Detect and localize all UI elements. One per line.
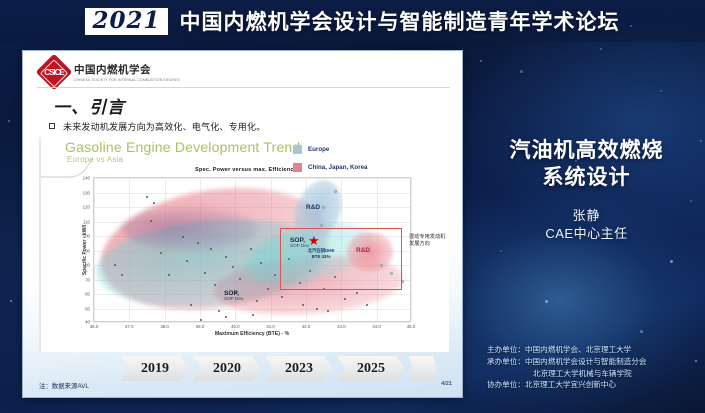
hybrid-direction-line2: 发展方向	[409, 241, 445, 248]
presentation-stage: 2021 中国内燃机学会设计与智能制造青年学术论坛 CSICE 中国内燃机学会 …	[0, 0, 705, 413]
plot-heading: Spec. Power versus max. Efficiency	[41, 167, 451, 173]
y-axis-title: Specific Power - kW/l	[82, 224, 88, 274]
background-speck	[575, 160, 577, 162]
year-timeline: 2019 2020 2023 2025	[121, 356, 441, 381]
background-speck	[610, 380, 612, 382]
background-speck	[630, 25, 632, 27]
logo-glyph: CSICE	[41, 59, 67, 85]
chart-card: Gasoline Engine Development Trend Europe…	[39, 137, 449, 352]
legend-item-asia: China, Japan, Korea	[293, 163, 368, 172]
speaker-name: 张静	[468, 205, 705, 224]
organizer-organizer-2: 北京理工大学机械与车辆学院	[487, 368, 703, 380]
background-speck	[690, 200, 692, 202]
background-speck	[10, 300, 12, 302]
legend-swatch-europe	[293, 145, 302, 154]
background-speck	[480, 60, 482, 62]
organizer-coorganizer: 协办单位：北京理工大学宜兴创新中心	[487, 379, 703, 391]
x-tick-label: 43.0	[337, 324, 346, 329]
timeline-year: 2025	[337, 356, 405, 381]
highlight-box	[280, 228, 402, 290]
x-axis-title: Maximum Efficiency (BTE) - %	[215, 331, 289, 337]
presentation-title: 汽油机高效燃烧 系统设计	[468, 138, 705, 192]
background-speck	[600, 48, 602, 50]
background-speck	[8, 120, 10, 122]
logo-org-cn: 中国内燃机学会	[74, 62, 180, 77]
organizer-organizer: 承办单位：中国内燃机学会设计与智能制造分会	[487, 356, 703, 368]
y-tick-label: 130	[83, 190, 90, 195]
x-tick-label: 36.0	[90, 324, 99, 329]
x-tick-label: 37.0	[125, 324, 134, 329]
x-tick-label: 40.0	[231, 324, 240, 329]
x-tick-label: 41.0	[266, 324, 275, 329]
organizer-host: 主办单位：中国内燃机学会、北京理工大学	[487, 344, 703, 356]
highlight-star-icon: ★	[308, 234, 320, 247]
label-europe-rd: R&D	[306, 204, 320, 211]
legend-label-europe: Europe	[308, 146, 329, 153]
background-speck	[545, 300, 548, 303]
timeline-tail	[409, 356, 437, 381]
section-heading: 一、引言	[53, 93, 125, 118]
background-speck	[660, 90, 662, 92]
chart-legend: Europe China, Japan, Korea	[293, 145, 368, 181]
chart-title: Gasoline Engine Development Trend	[65, 139, 300, 155]
organizer-block: 主办单位：中国内燃机学会、北京理工大学 承办单位：中国内燃机学会设计与智能制造分…	[487, 344, 703, 391]
logo-text: 中国内燃机学会 CHINESE SOCIETY FOR INTERNAL COM…	[74, 62, 180, 82]
banner-title: 中国内燃机学会设计与智能制造青年学术论坛	[180, 6, 620, 36]
hybrid-direction-annotation: 混动专用发动机 发展方向	[409, 234, 445, 249]
timeline-year: 2020	[193, 356, 261, 381]
legend-item-europe: Europe	[293, 145, 368, 154]
speaker-role: CAE中心主任	[468, 223, 705, 242]
bullet-item: 未来发动机发展方向为高效化、电气化、专用化。	[49, 120, 265, 133]
y-tick-label: 70	[85, 277, 90, 282]
x-tick-label: 38.0	[160, 324, 169, 329]
bullet-text: 未来发动机发展方向为高效化、电气化、专用化。	[63, 120, 265, 133]
slide-footnote: 注：数据来源AVL	[39, 381, 89, 390]
background-speck	[640, 330, 643, 333]
event-banner: 2021 中国内燃机学会设计与智能制造青年学术论坛	[0, 0, 705, 42]
highlight-label-line2: BTE 43%	[290, 254, 352, 260]
presentation-title-line1: 汽油机高效燃烧	[468, 138, 705, 165]
society-logo: CSICE 中国内燃机学会 CHINESE SOCIETY FOR INTERN…	[41, 59, 180, 85]
label-asia-sop: SOP, SOP Dev.	[224, 290, 244, 301]
x-tick-label: 39.0	[196, 324, 205, 329]
timeline-year: 2019	[121, 356, 189, 381]
y-tick-label: 140	[83, 176, 90, 181]
slide-canvas: CSICE 中国内燃机学会 CHINESE SOCIETY FOR INTERN…	[22, 50, 463, 398]
y-tick-label: 50	[85, 306, 90, 311]
y-tick-label: 60	[85, 292, 90, 297]
presentation-title-line2: 系统设计	[468, 165, 705, 192]
y-tick-label: 120	[83, 205, 90, 210]
x-tick-label: 45.0	[407, 324, 416, 329]
x-tick-label: 42.0	[302, 324, 311, 329]
slide-page-number: 4/21	[441, 381, 452, 387]
scatter-plot-area: 140 130 120 110 100 90 80 70 60 50 40 36…	[93, 177, 411, 322]
legend-label-asia: China, Japan, Korea	[308, 164, 368, 171]
chart-subtitle: Europe vs Asia	[67, 155, 123, 164]
square-bullet-icon	[49, 123, 55, 129]
timeline-year: 2023	[265, 356, 333, 381]
label-asia-sop-sub: SOP Dev.	[224, 296, 244, 301]
y-tick-label: 110	[83, 219, 90, 224]
background-speck	[520, 70, 523, 73]
background-speck	[670, 260, 673, 263]
banner-year: 2021	[85, 8, 167, 35]
background-speck	[500, 250, 502, 252]
legend-swatch-asia	[293, 163, 302, 172]
logo-org-en: CHINESE SOCIETY FOR INTERNAL COMBUSTION …	[74, 78, 180, 82]
diamond-logo-icon: CSICE	[36, 54, 73, 91]
x-tick-label: 44.0	[372, 324, 381, 329]
highlight-star-caption: 北汽在研DHE BTE 43%	[290, 248, 352, 259]
region-overlap	[122, 208, 258, 250]
heading-divider	[37, 87, 450, 88]
